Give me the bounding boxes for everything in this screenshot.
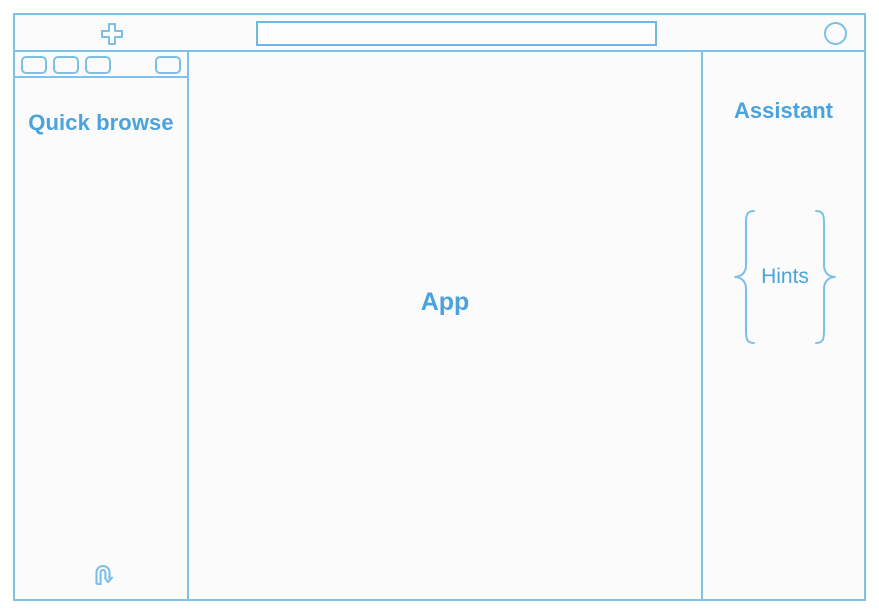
new-tab-button[interactable] xyxy=(99,21,125,47)
sidebar-panel: Quick browse xyxy=(15,52,189,599)
top-bar xyxy=(15,15,864,52)
hints-label: Hints xyxy=(757,265,813,289)
main-app-canvas[interactable]: App xyxy=(189,52,703,599)
app-window: Quick browse App Assistant xyxy=(13,13,866,601)
sidebar-content: Quick browse xyxy=(15,78,187,599)
left-brace-icon xyxy=(731,207,757,347)
window-body: Quick browse App Assistant xyxy=(15,52,864,599)
main-app-label: App xyxy=(421,288,470,317)
back-button[interactable] xyxy=(88,559,118,589)
sidebar-toolbar-button-4[interactable] xyxy=(155,56,181,74)
sidebar-toolbar-button-3[interactable] xyxy=(85,56,111,74)
u-turn-arrow-icon xyxy=(88,559,118,589)
sidebar-title: Quick browse xyxy=(15,108,187,137)
assistant-title: Assistant xyxy=(703,98,864,124)
hints-block: Hints xyxy=(714,207,856,347)
plus-icon xyxy=(99,21,125,47)
sidebar-toolbar xyxy=(15,52,187,78)
search-input[interactable] xyxy=(256,21,657,46)
right-brace-icon xyxy=(813,207,839,347)
sidebar-toolbar-button-2[interactable] xyxy=(53,56,79,74)
account-avatar-icon[interactable] xyxy=(824,22,847,45)
sidebar-toolbar-button-1[interactable] xyxy=(21,56,47,74)
assistant-panel: Assistant Hints xyxy=(703,52,864,599)
